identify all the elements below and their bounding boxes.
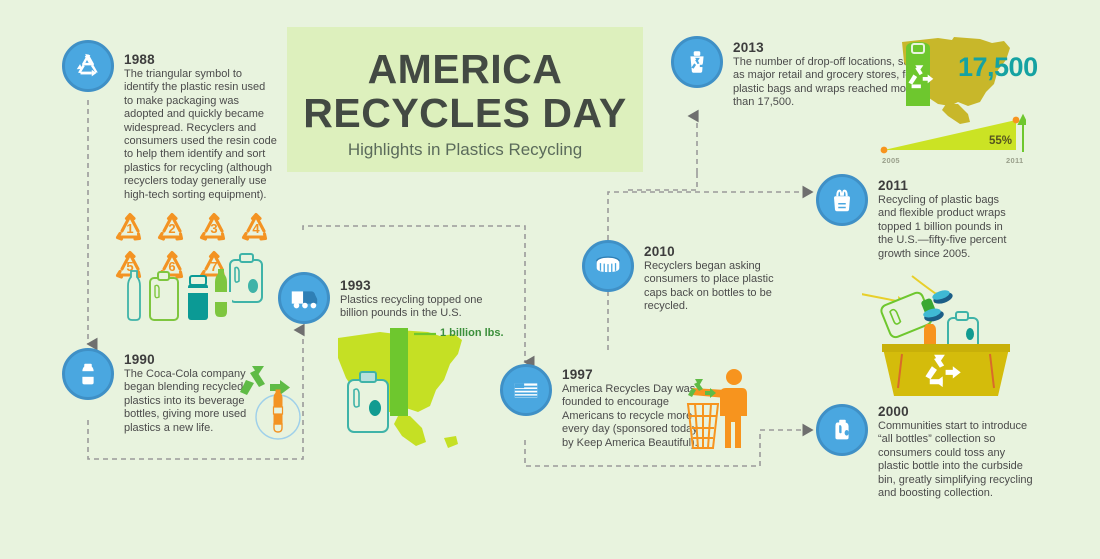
plastic-bag-icon [816, 174, 868, 226]
person-recycling-illustration [684, 368, 756, 456]
page-title: AMERICA RECYCLES DAY [287, 47, 643, 135]
us-flag-icon [500, 364, 552, 416]
jug-outline-icon [230, 254, 262, 302]
title-card: AMERICA RECYCLES DAY Highlights in Plast… [287, 27, 643, 172]
bottle-icon [62, 348, 114, 400]
resin-code-1: 1 [112, 212, 148, 245]
recycled-bottle-illustration [238, 362, 310, 444]
bin-rim [882, 344, 1010, 352]
resin-code-number: 2 [154, 221, 190, 236]
event-body: Recycling of plastic bags and flexible p… [878, 194, 1018, 261]
resin-code-number: 3 [196, 221, 232, 236]
milk-jug-icon [816, 404, 868, 456]
one-billion-lbs-label: 1 billion lbs. [440, 327, 504, 339]
green-recycle-arrows-icon [240, 366, 290, 395]
one-billion-bar [390, 328, 408, 416]
event-body: Recyclers began asking consumers to plac… [644, 260, 784, 314]
resin-code-2: 2 [154, 212, 190, 245]
event-body: The triangular symbol to identify the pl… [124, 68, 277, 202]
teal-jar-icon [188, 276, 208, 320]
infographic-canvas: AMERICA RECYCLES DAY Highlights in Plast… [0, 0, 1100, 559]
waste-bin-icon [688, 404, 718, 448]
title-line-2: RECYCLES DAY [287, 91, 643, 135]
growth-arrow-icon [1019, 116, 1026, 152]
us-map-1993 [332, 320, 487, 460]
slim-bottle-icon [128, 271, 140, 320]
event-year: 1993 [340, 278, 490, 293]
bottle-cap-icon [582, 240, 634, 292]
growth-start-point [881, 147, 888, 154]
resin-code-number: 1 [112, 221, 148, 236]
orange-bottle-icon [272, 390, 284, 432]
curbside-bin-illustration [862, 272, 1020, 400]
growth-percent-label: 55% [989, 135, 1012, 147]
event-year: 2000 [878, 404, 1034, 419]
recycle-symbol-icon [62, 40, 114, 92]
event-year: 2010 [644, 244, 784, 259]
resin-code-3: 3 [196, 212, 232, 245]
resin-code-4: 4 [238, 212, 274, 245]
recycle-bin-icon [671, 36, 723, 88]
growth-start-year-label: 2005 [882, 156, 900, 165]
drop-off-count-label: 17,500 [958, 52, 1038, 83]
page-subtitle: Highlights in Plastics Recycling [287, 140, 643, 160]
teal-jug-overlay-icon [348, 372, 388, 432]
resin-code-number: 4 [238, 221, 274, 236]
event-body: America Recycles Day was founded to enco… [562, 383, 704, 450]
event-year: 1988 [124, 52, 277, 67]
green-recycle-bin-icon [906, 42, 933, 106]
event-year: 1997 [562, 367, 704, 382]
event-body: Plastics recycling topped one billion po… [340, 294, 490, 321]
plastic-container-illustrations [118, 252, 268, 326]
title-line-1: AMERICA [287, 47, 643, 91]
garbage-truck-icon [278, 272, 330, 324]
green-jug-icon [150, 272, 178, 320]
event-year: 2011 [878, 178, 1018, 193]
growth-end-year-label: 2011 [1006, 156, 1023, 165]
event-body: Communities start to introduce “all bott… [878, 420, 1034, 500]
growth-end-point [1013, 117, 1020, 124]
